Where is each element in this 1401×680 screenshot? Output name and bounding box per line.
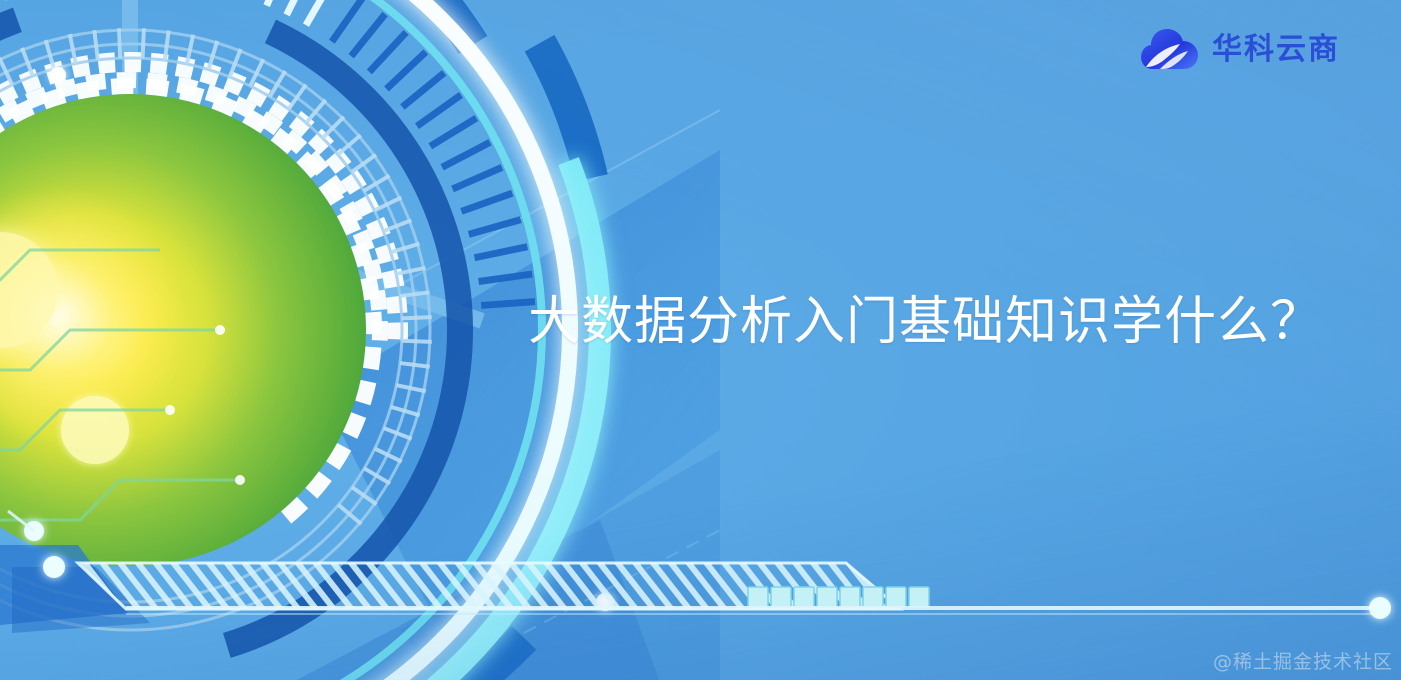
promo-banner: 华科云商 大数据分析入门基础知识学什么？ @稀土掘金技术社区 xyxy=(0,0,1401,680)
brand-logo[interactable]: 华科云商 xyxy=(1140,24,1340,76)
watermark-label: @稀土掘金技术社区 xyxy=(1213,647,1393,674)
brand-name: 华科云商 xyxy=(1212,35,1340,65)
page-title: 大数据分析入门基础知识学什么？ xyxy=(528,292,1323,353)
cloud-icon xyxy=(1140,24,1200,76)
bottom-accent-bar xyxy=(0,505,1401,635)
